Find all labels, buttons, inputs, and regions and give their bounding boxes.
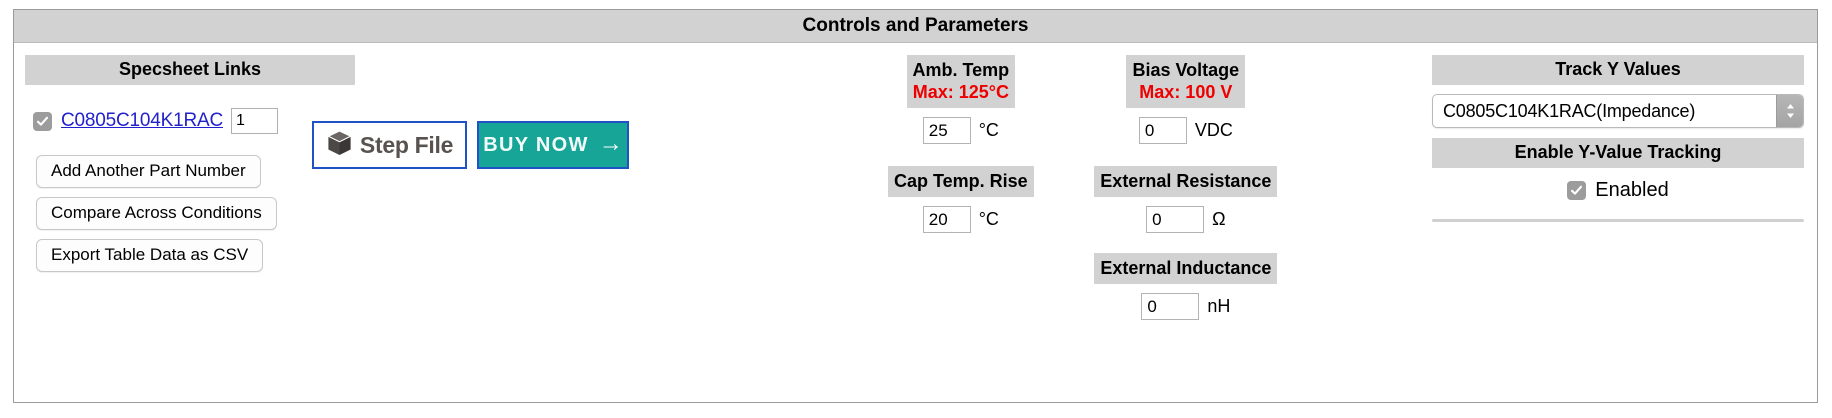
bias-voltage-unit: VDC [1195,120,1233,141]
param-amb-temp: Amb. Temp Max: 125°C °C [869,55,1053,144]
external-resistance-input[interactable] [1146,206,1204,233]
track-y-values-select[interactable]: C0805C104K1RAC(Impedance) [1432,94,1804,128]
step-file-label: Step File [360,132,453,159]
track-y-values-selected-option: C0805C104K1RAC(Impedance) [1433,101,1776,122]
panel-body: Specsheet Links C0805C104K1RAC Add Anoth… [14,43,1817,403]
param-external-inductance: External Inductance nH [1078,253,1294,320]
step-file-button[interactable]: Step File [312,121,467,169]
enable-y-value-tracking-header: Enable Y-Value Tracking [1432,138,1804,168]
track-section-divider [1432,219,1804,222]
param-cap-temp-rise: Cap Temp. Rise °C [869,166,1053,233]
cube-icon [326,129,353,162]
param-bias-voltage-header: Bias Voltage Max: 100 V [1126,55,1245,108]
external-inductance-unit: nH [1207,296,1230,317]
param-bias-voltage-title: Bias Voltage [1132,60,1239,80]
add-another-part-number-button[interactable]: Add Another Part Number [36,155,261,188]
external-resistance-unit: Ω [1212,209,1225,230]
enabled-checkbox[interactable] [1567,181,1586,200]
specsheet-action-buttons: Add Another Part Number Compare Across C… [36,155,355,272]
spacer-1 [869,144,1319,166]
param-external-resistance-header: External Resistance [1094,166,1277,197]
amb-temp-unit: °C [979,120,999,141]
param-bias-voltage: Bias Voltage Max: 100 V VDC [1078,55,1294,144]
compare-across-conditions-button[interactable]: Compare Across Conditions [36,197,277,230]
param-amb-temp-value-row: °C [869,117,1053,144]
param-external-inductance-header: External Inductance [1094,253,1277,284]
param-external-resistance: External Resistance Ω [1078,166,1294,233]
panel-title: Controls and Parameters [14,10,1817,43]
part-number-link[interactable]: C0805C104K1RAC [61,110,223,132]
export-table-data-as-csv-button[interactable]: Export Table Data as CSV [36,239,263,272]
quantity-input[interactable] [231,108,278,134]
parameters-row-2: Cap Temp. Rise °C External Resistance [869,166,1319,233]
cap-temp-rise-unit: °C [979,209,999,230]
param-external-resistance-value-row: Ω [1078,206,1294,233]
amb-temp-input[interactable] [923,117,971,144]
param-cap-temp-rise-header: Cap Temp. Rise [888,166,1034,197]
param-amb-temp-max: Max: 125°C [913,81,1010,103]
buy-now-button[interactable]: BUY NOW → [477,121,629,169]
enable-y-value-tracking-row[interactable]: Enabled [1432,179,1804,202]
param-cap-temp-rise-value-row: °C [869,206,1053,233]
part-select-checkbox[interactable] [33,112,52,131]
param-amb-temp-header: Amb. Temp Max: 125°C [907,55,1016,108]
parameters-row-3: External Inductance nH [869,253,1319,320]
part-row: C0805C104K1RAC [25,107,355,135]
controls-and-parameters-screen: Controls and Parameters Specsheet Links … [0,0,1832,418]
param-amb-temp-title: Amb. Temp [913,60,1010,80]
spacer-2 [869,233,1319,253]
select-stepper-icon[interactable] [1776,95,1803,127]
param-external-inductance-value-row: nH [1078,293,1294,320]
cap-temp-rise-input[interactable] [923,206,971,233]
arrow-right-icon: → [599,132,623,156]
enabled-label: Enabled [1595,179,1668,202]
specsheet-links-header: Specsheet Links [25,55,355,85]
controls-panel: Controls and Parameters Specsheet Links … [13,9,1818,403]
parameters-row-1: Amb. Temp Max: 125°C °C Bias Volta [869,55,1319,144]
external-inductance-input[interactable] [1141,293,1199,320]
bias-voltage-input[interactable] [1139,117,1187,144]
parameters-section: Amb. Temp Max: 125°C °C Bias Volta [869,55,1319,320]
track-y-values-section: Track Y Values C0805C104K1RAC(Impedance)… [1432,55,1804,222]
track-y-values-header: Track Y Values [1432,55,1804,85]
param-bias-voltage-max: Max: 100 V [1132,81,1239,103]
buy-now-label: BUY NOW [483,134,588,157]
param-bias-voltage-value-row: VDC [1078,117,1294,144]
specsheet-links-section: Specsheet Links C0805C104K1RAC Add Anoth… [25,55,355,281]
param-empty-slot [869,253,1053,320]
